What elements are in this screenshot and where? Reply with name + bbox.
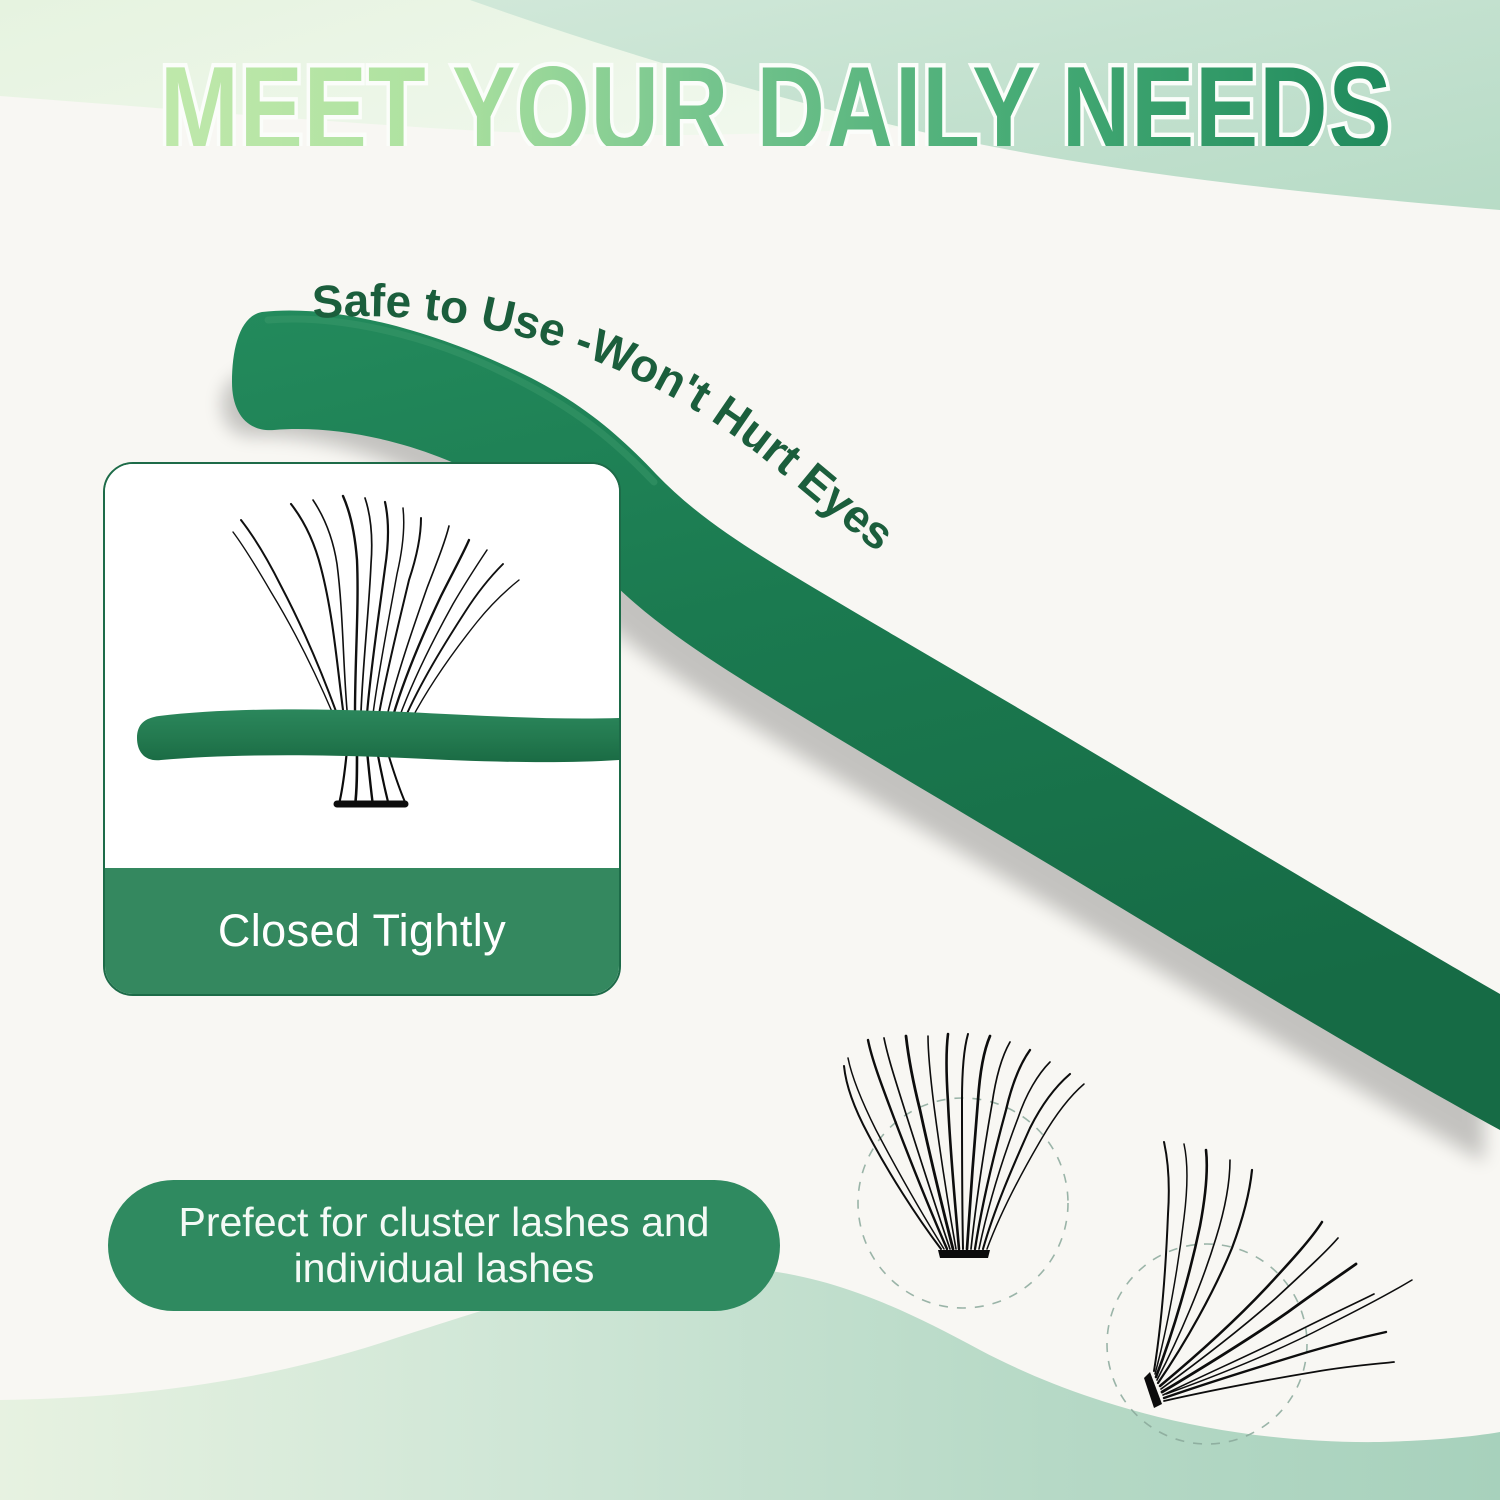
feature-card-closed-tightly[interactable]: Closed Tightly bbox=[103, 462, 621, 996]
lash-root-band bbox=[337, 750, 405, 806]
feature-card-photo bbox=[105, 464, 619, 868]
product-marketing-image: MEET YOUR DAILY NEEDS bbox=[0, 0, 1500, 1500]
pill-caption[interactable]: Prefect for cluster lashes and individua… bbox=[108, 1180, 780, 1311]
tweezer-tip-in-card bbox=[137, 709, 619, 762]
page-title: MEET YOUR DAILY NEEDS bbox=[0, 36, 1500, 146]
feature-card-footer: Closed Tightly bbox=[105, 868, 619, 994]
page-title-text: MEET YOUR DAILY NEEDS bbox=[160, 42, 1393, 146]
pill-caption-text: Prefect for cluster lashes and individua… bbox=[108, 1200, 780, 1292]
feature-card-caption: Closed Tightly bbox=[218, 905, 506, 957]
lash-cluster-in-card bbox=[233, 496, 519, 720]
